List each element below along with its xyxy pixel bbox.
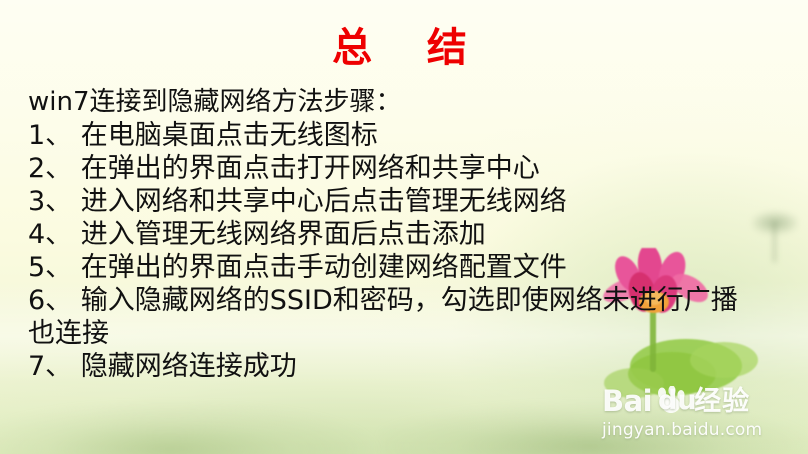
slide-canvas: 总 结 win7连接到隐藏网络方法步骤： 1、 在电脑桌面点击无线图标 2、 在…	[0, 0, 808, 454]
background-hill-left	[0, 404, 390, 454]
summary-body: win7连接到隐藏网络方法步骤： 1、 在电脑桌面点击无线图标 2、 在弹出的界…	[28, 86, 788, 383]
background-hill-right	[380, 402, 808, 454]
step-line-7: 7、 隐藏网络连接成功	[28, 350, 788, 383]
step-line-6: 6、 输入隐藏网络的SSID和密码，勾选即使网络未进行广播	[28, 284, 788, 317]
step-line-3: 3、 进入网络和共享中心后点击管理无线网络	[28, 185, 788, 218]
step-line-5: 5、 在弹出的界面点击手动创建网络配置文件	[28, 251, 788, 284]
step-line-6-wrap: 也连接	[28, 317, 788, 350]
page-title: 总 结	[0, 28, 808, 68]
step-line-4: 4、 进入管理无线网络界面后点击添加	[28, 218, 788, 251]
intro-line: win7连接到隐藏网络方法步骤：	[28, 86, 788, 119]
step-line-1: 1、 在电脑桌面点击无线图标	[28, 119, 788, 152]
step-line-2: 2、 在弹出的界面点击打开网络和共享中心	[28, 152, 788, 185]
